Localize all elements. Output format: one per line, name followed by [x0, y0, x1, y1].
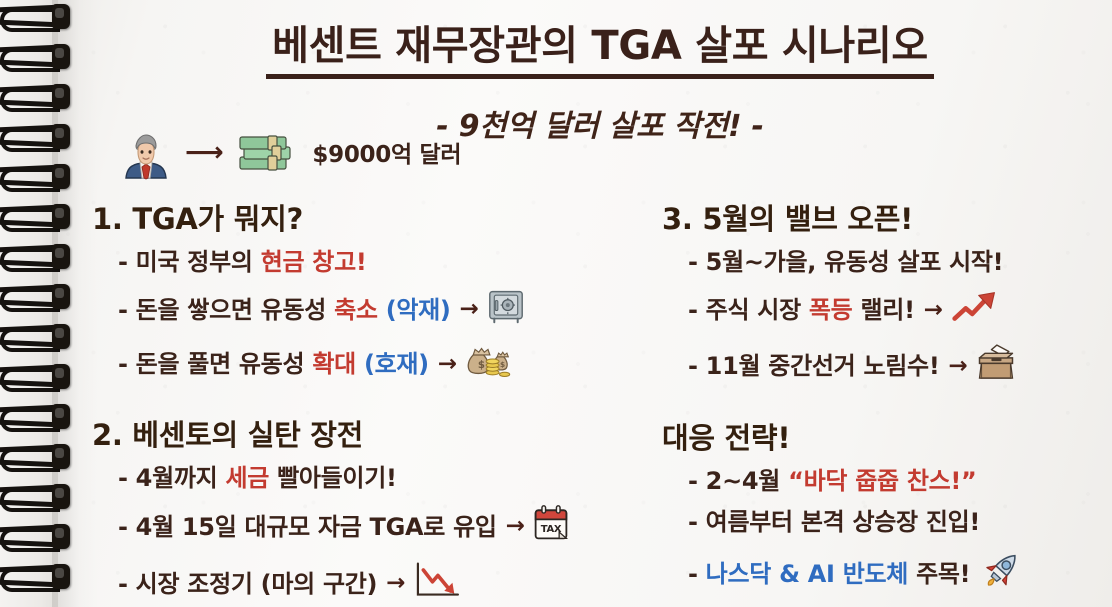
bullet-text: 돈을 풀면 유동성 확대 (호재)	[136, 349, 429, 379]
bullet-dash: -	[118, 349, 128, 379]
bullet-text: 4월까지 세금 빨아들이기!	[136, 463, 397, 493]
bullet-text-run: 4월 15일 대규모 자금 TGA로 유입	[136, 513, 497, 541]
right-arrow-icon: →	[438, 350, 457, 379]
bullet-item: -5월~가을, 유동성 살포 시작!	[688, 247, 1112, 277]
bullet-dash: -	[118, 512, 128, 542]
bullet-text: 2~4월 “바닥 줍줍 찬스!”	[706, 466, 977, 496]
bullet-text: 여름부터 본격 상승장 진입!	[706, 507, 980, 537]
bullet-text-run: 돈을 쌓으면 유동성	[136, 296, 334, 324]
bullet-dash: -	[688, 295, 698, 325]
bullet-dash: -	[118, 295, 128, 325]
section: 3. 5월의 밸브 오픈!-5월~가을, 유동성 살포 시작!-주식 시장 폭등…	[662, 196, 1112, 389]
bullet-dash: -	[118, 247, 128, 277]
safe-vault-icon	[486, 288, 526, 331]
bullet-text-run: (호재)	[364, 350, 429, 378]
bullet-text-run: 미국 정부의	[136, 248, 261, 276]
chart-decreasing-icon	[412, 560, 462, 607]
bullet-text-run: 폭등	[809, 296, 853, 324]
right-arrow-icon: →	[506, 512, 525, 541]
bullet-text: 돈을 쌓으면 유동성 축소 (악재)	[136, 295, 451, 325]
section-heading: 3. 5월의 밸브 오픈!	[662, 196, 1112, 238]
hero-amount-label: $9000억 달러	[312, 135, 461, 169]
section-heading: 1. TGA가 뭐지?	[92, 196, 622, 238]
right-arrow-icon: →	[948, 352, 967, 381]
bullet-text: 미국 정부의 현금 창고!	[136, 247, 367, 277]
bullet-item: -4월 15일 대규모 자금 TGA로 유입→TAX	[118, 504, 622, 549]
bullet-text-run: 랠리!	[852, 296, 914, 324]
right-arrow-icon: →	[924, 296, 943, 325]
section: 2. 베센토의 실탄 장전-4월까지 세금 빨아들이기!-4월 15일 대규모 …	[92, 412, 622, 607]
ballot-box-icon	[974, 343, 1018, 389]
svg-text:$: $	[478, 360, 485, 371]
bullet-text-run: 주식 시장	[706, 296, 809, 324]
bullet-text-run	[356, 350, 364, 378]
section: 1. TGA가 뭐지?-미국 정부의 현금 창고!-돈을 쌓으면 유동성 축소 …	[92, 196, 622, 386]
bullet-item: -2~4월 “바닥 줍줍 찬스!”	[688, 466, 1112, 496]
bullet-text-run: 확대	[312, 350, 356, 378]
right-arrow-icon: →	[386, 569, 405, 598]
bullet-text: 11월 중간선거 노림수!	[706, 351, 940, 381]
bullet-item: -11월 중간선거 노림수!→	[688, 343, 1112, 389]
rocket-icon	[980, 548, 1024, 599]
bullet-text-run: (악재)	[386, 296, 451, 324]
left-column: 1. TGA가 뭐지?-미국 정부의 현금 창고!-돈을 쌓으면 유동성 축소 …	[92, 196, 622, 607]
bullet-text-run: 11월 중간선거 노림수!	[706, 352, 940, 380]
man-in-suit-portrait-icon	[118, 124, 174, 180]
title-block: 베센트 재무장관의 TGA 살포 시나리오	[100, 24, 1100, 79]
section-heading: 대응 전략!	[662, 415, 1112, 457]
section-heading: 2. 베센토의 실탄 장전	[92, 412, 622, 454]
page-left-edge	[0, 0, 58, 607]
bullet-text-run: 현금 창고!	[261, 248, 367, 276]
bullet-dash: -	[688, 507, 698, 537]
bullet-text-run: 시장 조정기 (마의 구간)	[136, 570, 378, 598]
bullet-text-run: 여름부터 본격 상승장 진입!	[706, 508, 980, 536]
infographic-page: 베센트 재무장관의 TGA 살포 시나리오 - 9천억 달러 살포 작전! - …	[0, 0, 1112, 607]
bullet-item: -미국 정부의 현금 창고!	[118, 247, 622, 277]
bullet-text-run: 주목!	[908, 560, 970, 588]
bullet-dash: -	[688, 466, 698, 496]
bullet-dash: -	[118, 463, 128, 493]
bullet-text-run: 나스닥 & AI 반도체	[706, 560, 908, 588]
money-stack-icon	[234, 127, 300, 177]
bullet-text-run: 빨아들이기!	[269, 464, 397, 492]
bullet-text: 나스닥 & AI 반도체 주목!	[706, 559, 971, 589]
bullet-text: 5월~가을, 유동성 살포 시작!	[706, 247, 1004, 277]
tax-calendar-icon: TAX	[532, 504, 570, 549]
bullet-dash: -	[688, 247, 698, 277]
right-arrow-icon: →	[460, 295, 479, 324]
bullet-dash: -	[688, 559, 698, 589]
bullet-dash: -	[118, 569, 128, 599]
bullet-text-run: 세금	[225, 464, 269, 492]
bullet-text-run	[378, 296, 386, 324]
hero-row: ⟶ $9000억 달러	[118, 124, 461, 180]
bullet-text-run: 5월~가을, 유동성 살포 시작!	[706, 248, 1004, 276]
bullet-text: 시장 조정기 (마의 구간)	[136, 569, 378, 599]
bullet-text-run: 축소	[334, 296, 378, 324]
bullet-text-run: 2~4월	[706, 467, 788, 495]
bullet-text-run: “바닥 줍줍 찬스!”	[788, 467, 976, 495]
bullet-item: -시장 조정기 (마의 구간)→	[118, 560, 622, 607]
right-column: 3. 5월의 밸브 오픈!-5월~가을, 유동성 살포 시작!-주식 시장 폭등…	[662, 196, 1112, 607]
bullet-text: 주식 시장 폭등 랠리!	[706, 295, 915, 325]
bullet-item: -나스닥 & AI 반도체 주목!	[688, 548, 1112, 599]
bullet-item: -돈을 풀면 유동성 확대 (호재)→$$	[118, 342, 622, 386]
bullet-text-run: 돈을 풀면 유동성	[136, 350, 313, 378]
bullet-text-run: 4월까지	[136, 464, 226, 492]
bullet-text: 4월 15일 대규모 자금 TGA로 유입	[136, 512, 497, 542]
bullet-dash: -	[688, 351, 698, 381]
bullet-item: -돈을 쌓으면 유동성 축소 (악재)→	[118, 288, 622, 331]
money-bag-icon: $$	[464, 342, 512, 386]
chart-increasing-icon	[950, 288, 1000, 332]
bullet-item: -여름부터 본격 상승장 진입!	[688, 507, 1112, 537]
svg-text:$: $	[500, 360, 505, 369]
page-title: 베센트 재무장관의 TGA 살포 시나리오	[266, 24, 934, 79]
right-arrow-icon: ⟶	[185, 139, 223, 166]
section: 대응 전략!-2~4월 “바닥 줍줍 찬스!”-여름부터 본격 상승장 진입!-…	[662, 415, 1112, 599]
bullet-item: -4월까지 세금 빨아들이기!	[118, 463, 622, 493]
bullet-item: -주식 시장 폭등 랠리!→	[688, 288, 1112, 332]
